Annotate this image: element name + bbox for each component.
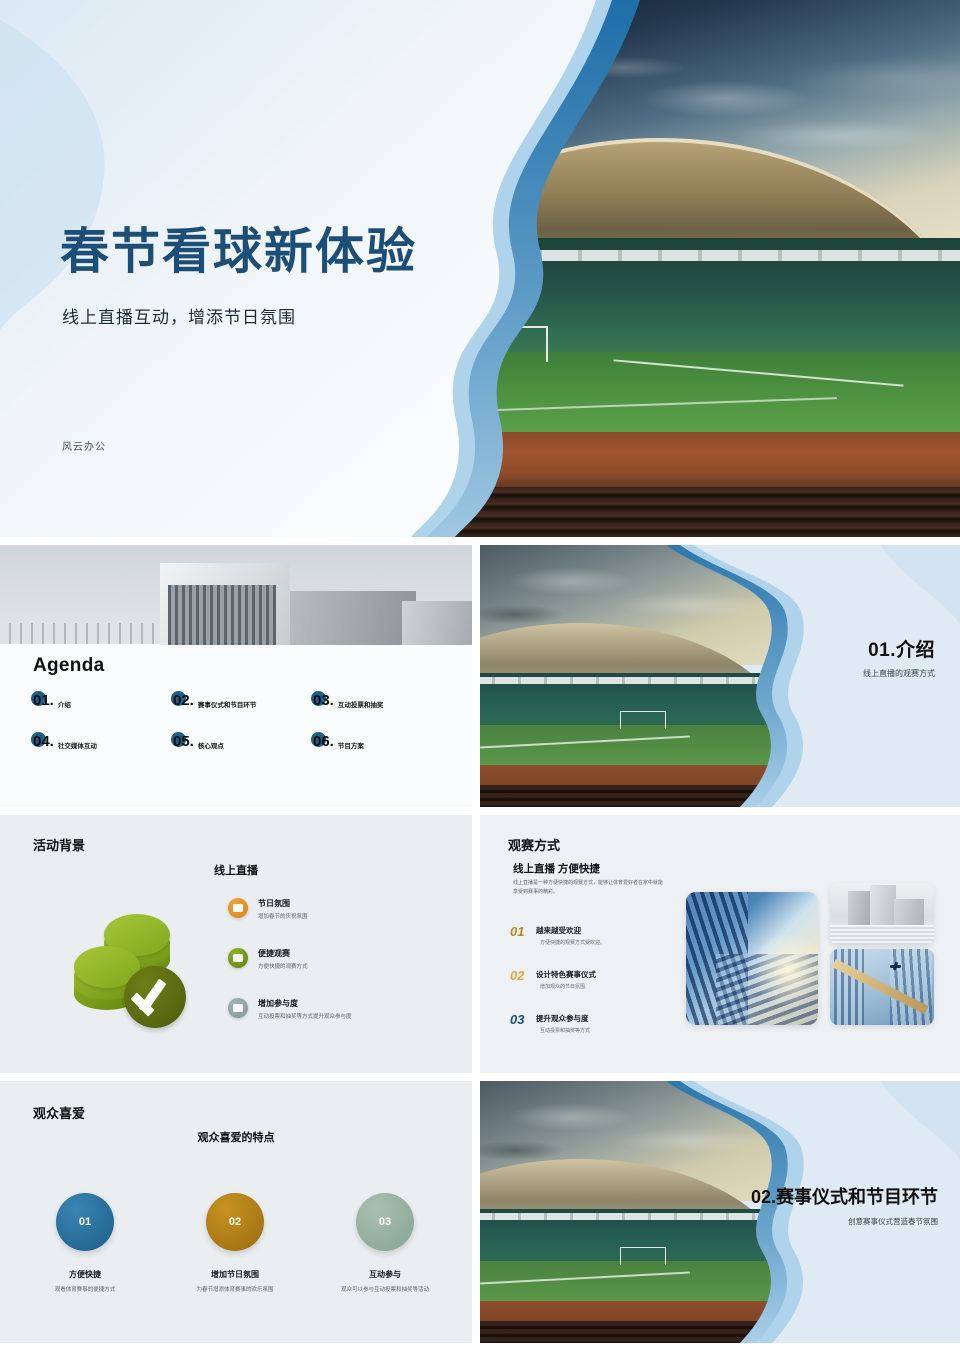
audience-card[interactable]: 01 方便快捷 观看体育赛事的便捷方式 <box>10 1193 160 1295</box>
agenda-item-number: 03. <box>313 693 334 708</box>
agenda-title: Agenda <box>33 655 104 677</box>
agenda-item-label: 核心观点 <box>198 740 224 750</box>
card-desc: 观看体育赛事的便捷方式 <box>10 1286 160 1295</box>
card-desc: 为春节增添体育赛事的欢乐氛围 <box>160 1286 310 1295</box>
step-heading: 设计特色赛事仪式 <box>536 969 596 980</box>
feature-item[interactable]: 便捷观赛 方便快捷的观赛方式 <box>228 948 458 970</box>
building-block <box>870 885 896 925</box>
goal-post <box>448 326 548 362</box>
step-item[interactable]: 03 提升观众参与度 互动投票和抽奖等方式 <box>510 1013 690 1034</box>
stadium-photo <box>400 0 960 537</box>
photo-fence <box>0 623 160 644</box>
building-block <box>848 891 870 925</box>
slide-title: 观赛方式 <box>508 835 560 854</box>
agenda-item-label: 介绍 <box>58 699 71 709</box>
dirt-track <box>400 432 960 490</box>
agenda-item-number: 02. <box>173 693 194 708</box>
stand-railing <box>400 250 960 261</box>
title-subtitle: 线上直播互动，增添节日氛围 <box>62 303 296 328</box>
agenda-slide: Agenda 01. 介绍 02. 赛事仪式和节目环节 03. 互动投票和抽奖 <box>0 545 472 807</box>
agenda-item-02[interactable]: 02. 赛事仪式和节目环节 <box>173 693 313 709</box>
skyscraper-photo-main <box>686 892 818 1025</box>
agenda-item-number: 06. <box>313 734 334 749</box>
feature-item[interactable]: 增加参与度 互动投票和抽奖等方式提升观众参与度 <box>228 998 458 1020</box>
step-number: 01 <box>510 925 532 938</box>
architecture-photo <box>0 545 472 644</box>
briefcase-icon <box>228 948 248 968</box>
agenda-row: 01. 介绍 02. 赛事仪式和节目环节 03. 互动投票和抽奖 <box>33 693 453 709</box>
airplane-icon <box>890 965 901 968</box>
agenda-item-label: 互动投票和抽奖 <box>338 699 384 709</box>
slide-subtitle: 线上直播 <box>214 862 258 878</box>
watch-step-list: 01 越来越受欢迎 方便快捷的观赛方式受欢迎。 02 设计特色赛事仪式 增加观众… <box>510 925 690 1057</box>
card-number-badge: 03 <box>356 1193 414 1251</box>
slide-subtitle: 观众喜爱的特点 <box>0 1129 472 1145</box>
ground-plane <box>830 925 934 945</box>
section-subheading: 创意赛事仪式营造春节氛围 <box>718 1216 938 1227</box>
step-number: 02 <box>510 969 532 982</box>
card-number-badge: 02 <box>206 1193 264 1251</box>
background-feature-list: 节日氛围 增加春节的庆祝氛围 便捷观赛 方便快捷的观赛方式 增加参与度 互动投票… <box>228 898 458 1048</box>
step-desc: 互动投票和抽奖等方式 <box>540 1027 590 1034</box>
card-heading: 增加节日氛围 <box>160 1269 310 1280</box>
agenda-list: 01. 介绍 02. 赛事仪式和节目环节 03. 互动投票和抽奖 04. <box>33 693 453 775</box>
step-desc: 方便快捷的观赛方式受欢迎。 <box>540 939 605 946</box>
slide-heading: 线上直播 方便快捷 <box>513 861 600 876</box>
section-heading: 01.介绍 <box>863 635 935 662</box>
checkmark-icon <box>124 966 186 1028</box>
agenda-row: 04. 社交媒体互动 05. 核心观点 06. 节目方案 <box>33 734 453 750</box>
agenda-item-05[interactable]: 05. 核心观点 <box>173 734 313 750</box>
photo-building-louvers <box>168 585 276 645</box>
watch-method-slide: 观赛方式 线上直播 方便快捷 线上直播是一种方便快捷的观赛方式，能够让体育爱好者… <box>480 815 960 1073</box>
skyscraper-photo-plane <box>830 949 934 1025</box>
feature-item[interactable]: 节日氛围 增加春节的庆祝氛围 <box>228 898 458 920</box>
audience-card[interactable]: 02 增加节日氛围 为春节增添体育赛事的欢乐氛围 <box>160 1193 310 1295</box>
agenda-item-06[interactable]: 06. 节目方案 <box>313 734 453 750</box>
audience-card[interactable]: 03 互动参与 观众可以参与互动投票和抽奖等活动 <box>310 1193 460 1295</box>
background-slide: 活动背景 线上直播 节日氛围 增加春节的庆祝氛围 <box>0 815 472 1073</box>
chat-icon <box>228 998 248 1018</box>
audience-card-list: 01 方便快捷 观看体育赛事的便捷方式 02 增加节日氛围 为春节增添体育赛事的… <box>10 1193 462 1295</box>
feature-heading: 便捷观赛 <box>258 948 308 959</box>
section-text-block: 01.介绍 线上直播的观赛方式 <box>863 635 935 679</box>
section-heading: 02.赛事仪式和节目环节 <box>718 1186 938 1209</box>
agenda-item-label: 赛事仪式和节目环节 <box>198 699 257 709</box>
agenda-item-04[interactable]: 04. 社交媒体互动 <box>33 734 173 750</box>
slide-title: 活动背景 <box>33 835 85 854</box>
feature-desc: 增加春节的庆祝氛围 <box>258 912 308 920</box>
agenda-item-number: 01. <box>33 693 54 708</box>
section-one-slide: 01.介绍 线上直播的观赛方式 <box>480 545 960 807</box>
card-heading: 方便快捷 <box>10 1269 160 1280</box>
coin-stack-illustration <box>68 910 198 1030</box>
slide-title: 观众喜爱 <box>33 1103 85 1122</box>
slide-paragraph: 线上直播是一种方便快捷的观赛方式，能够让体育爱好者在家中就能享受到赛事的精彩。 <box>513 879 663 897</box>
agenda-item-number: 04. <box>33 734 54 749</box>
feature-desc: 方便快捷的观赛方式 <box>258 962 308 970</box>
glass-facade <box>890 949 932 1025</box>
agenda-item-01[interactable]: 01. 介绍 <box>33 693 173 709</box>
feature-desc: 互动投票和抽奖等方式提升观众参与度 <box>258 1012 352 1020</box>
card-desc: 观众可以参与互动投票和抽奖等活动 <box>310 1286 460 1295</box>
step-heading: 提升观众参与度 <box>536 1013 590 1024</box>
title-slide: 春节看球新体验 线上直播互动，增添节日氛围 风云办公 <box>0 0 960 537</box>
agenda-item-label: 社交媒体互动 <box>58 740 97 750</box>
step-desc: 增加观众的节日氛围 <box>540 983 596 990</box>
building-block <box>894 899 924 925</box>
mail-icon <box>228 898 248 918</box>
card-number-badge: 01 <box>56 1193 114 1251</box>
section-text-block: 02.赛事仪式和节目环节 创意赛事仪式营造春节氛围 <box>718 1186 938 1227</box>
agenda-item-label: 节目方案 <box>338 740 364 750</box>
agenda-item-03[interactable]: 03. 互动投票和抽奖 <box>313 693 453 709</box>
feature-heading: 增加参与度 <box>258 998 352 1009</box>
grayscale-building-photo <box>830 883 934 945</box>
audience-slide: 观众喜爱 观众喜爱的特点 01 方便快捷 观看体育赛事的便捷方式 02 增加节日… <box>0 1081 472 1343</box>
step-heading: 越来越受欢迎 <box>536 925 605 936</box>
agenda-item-number: 05. <box>173 734 194 749</box>
photo-building-right <box>288 591 416 645</box>
feature-heading: 节日氛围 <box>258 898 308 909</box>
section-two-slide: 02.赛事仪式和节目环节 创意赛事仪式营造春节氛围 <box>480 1081 960 1343</box>
step-item[interactable]: 01 越来越受欢迎 方便快捷的观赛方式受欢迎。 <box>510 925 690 946</box>
sun-flare <box>748 935 818 1005</box>
card-heading: 互动参与 <box>310 1269 460 1280</box>
step-number: 03 <box>510 1013 532 1026</box>
section-subheading: 线上直播的观赛方式 <box>863 668 935 679</box>
slide-deck: 春节看球新体验 线上直播互动，增添节日氛围 风云办公 Agenda 01. 介绍 <box>0 0 960 1352</box>
author-label: 风云办公 <box>62 438 106 453</box>
photo-building-far <box>402 601 472 645</box>
page-title: 春节看球新体验 <box>60 212 417 283</box>
wooden-steps <box>400 487 960 537</box>
step-item[interactable]: 02 设计特色赛事仪式 增加观众的节日氛围 <box>510 969 690 990</box>
